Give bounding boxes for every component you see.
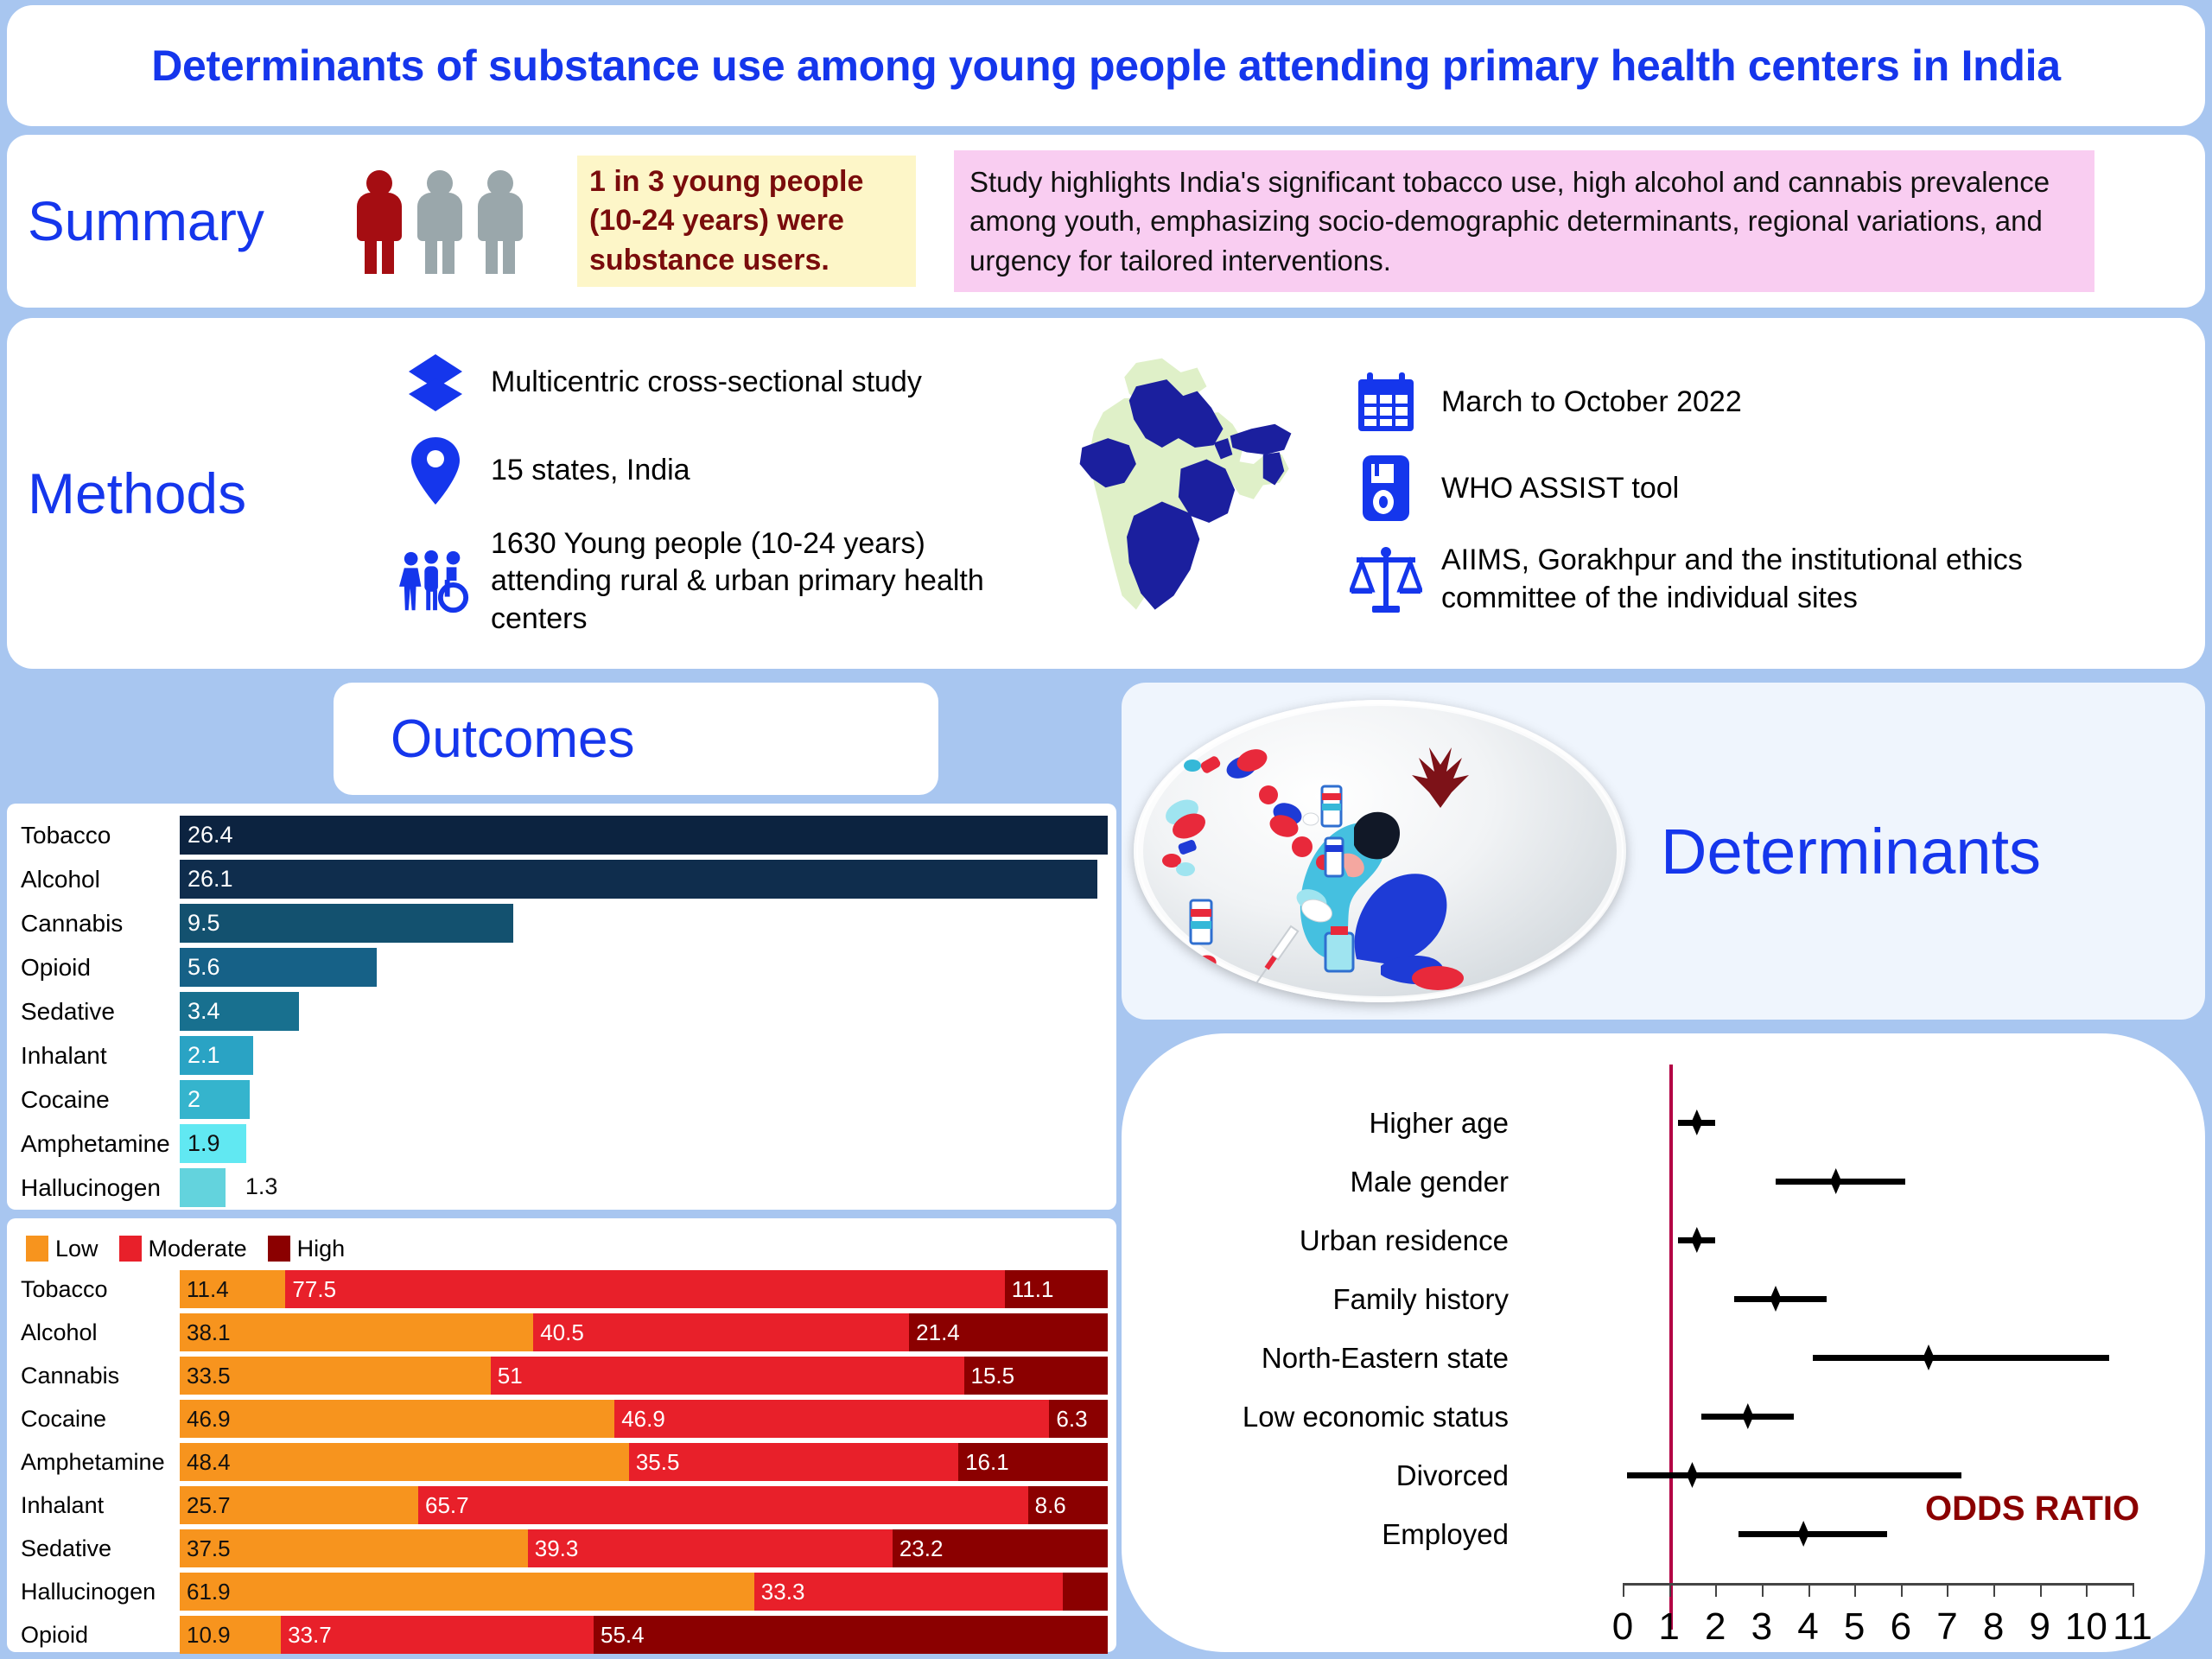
prevalence-bar-row: Tobacco26.4	[7, 814, 1108, 856]
severity-bar-label: Cocaine	[7, 1406, 180, 1433]
prevalence-bar-track: 26.1	[180, 860, 1108, 899]
severity-segment-value: 15.5	[971, 1363, 1015, 1389]
person-leg-left	[425, 236, 437, 274]
assessment-tool-icon	[1350, 454, 1422, 523]
severity-segment-value: 55.4	[601, 1622, 645, 1649]
severity-segment-low: 48.4	[180, 1443, 629, 1481]
method-item-period: March to October 2022	[1350, 369, 2050, 435]
severity-bar-track: 25.765.78.6	[180, 1486, 1108, 1524]
severity-segment-low: 46.9	[180, 1400, 614, 1438]
prevalence-bar-value: 1.3	[245, 1173, 278, 1200]
severity-segment-value: 61.9	[187, 1579, 231, 1605]
severity-segment-value: 8.6	[1035, 1492, 1066, 1519]
severity-segment-moderate: 33.7	[281, 1616, 594, 1654]
determinants-card: Determinants	[1122, 683, 2205, 1020]
legend-item-moderate: Moderate	[119, 1236, 247, 1262]
prevalence-bar-row: Alcohol26.1	[7, 858, 1108, 900]
outcomes-card: Outcomes	[334, 683, 938, 795]
prevalence-bar-row: Cocaine2	[7, 1078, 1108, 1121]
legend-label: High	[297, 1236, 346, 1262]
forest-axis-tick-label: 10	[2065, 1605, 2107, 1649]
severity-bar-row: Hallucinogen61.933.3	[7, 1571, 1108, 1612]
severity-segment-value: 33.7	[288, 1622, 332, 1649]
prevalence-bar-fill: 26.1	[180, 860, 1097, 899]
severity-rows: Tobacco11.477.511.1Alcohol38.140.521.4Ca…	[7, 1268, 1108, 1656]
prevalence-bar-track: 3.4	[180, 992, 1108, 1031]
person-leg-left	[486, 236, 498, 274]
prevalence-bar-value: 1.9	[188, 1130, 220, 1157]
prevalence-bar-track: 26.4	[180, 816, 1108, 855]
forest-row-label: Male gender	[1122, 1166, 1528, 1198]
severity-segment-high: 55.4	[594, 1616, 1108, 1654]
infographic-page: Determinants of substance use among youn…	[0, 0, 2212, 1659]
prevalence-bar-row: Cannabis9.5	[7, 902, 1108, 944]
forest-x-axis	[1623, 1583, 2133, 1586]
severity-bar-track: 37.539.323.2	[180, 1529, 1108, 1567]
calendar-icon	[1350, 369, 1422, 435]
prevalence-bar-value: 26.1	[188, 866, 233, 893]
methods-card: Methods Multicentric cross-sectional stu…	[7, 318, 2205, 669]
forest-row: Low economic status	[1122, 1388, 2205, 1446]
severity-bar-track: 38.140.521.4	[180, 1313, 1108, 1351]
legend-item-low: Low	[26, 1236, 99, 1262]
severity-segment-value: 23.2	[899, 1535, 944, 1562]
summary-heading: Summary	[28, 189, 347, 253]
layers-icon	[399, 349, 472, 416]
severity-segment-value: 10.9	[187, 1622, 231, 1649]
severity-segment-moderate: 51	[491, 1357, 964, 1395]
severity-bar-row: Inhalant25.765.78.6	[7, 1484, 1108, 1526]
method-item-tool: WHO ASSIST tool	[1350, 454, 2050, 523]
severity-segment-value: 48.4	[187, 1449, 231, 1476]
severity-segment-value: 39.3	[535, 1535, 579, 1562]
prevalence-bar-track: 9.5	[180, 904, 1108, 943]
forest-row: Urban residence	[1122, 1211, 2205, 1270]
severity-bar-label: Sedative	[7, 1535, 180, 1562]
severity-segment-value: 6.3	[1056, 1406, 1087, 1433]
severity-segment-value: 35.5	[636, 1449, 680, 1476]
prevalence-bar-value: 9.5	[188, 910, 220, 937]
severity-bar-track: 61.933.3	[180, 1573, 1108, 1611]
person-body	[417, 193, 462, 241]
people-pictogram	[354, 170, 525, 272]
person-leg-right	[503, 236, 515, 274]
prevalence-bar-value: 2	[188, 1086, 200, 1113]
outcomes-heading: Outcomes	[391, 709, 635, 770]
severity-segment-low: 37.5	[180, 1529, 528, 1567]
methods-left-column: Multicentric cross-sectional study 15 st…	[399, 349, 1039, 639]
prevalence-bar-track: 1.3	[180, 1168, 1108, 1207]
prevalence-bar-fill: 3.4	[180, 992, 299, 1031]
severity-segment-value: 40.5	[540, 1319, 584, 1346]
forest-row-label: Family history	[1122, 1283, 1528, 1316]
substance-use-illustration	[1134, 700, 1626, 1002]
severity-segment-moderate: 65.7	[418, 1486, 1028, 1524]
forest-plot-inner: 01234567891011ODDS RATIOHigher ageMale g…	[1122, 1033, 2205, 1652]
legend-swatch	[268, 1236, 290, 1262]
legend-label: Moderate	[149, 1236, 247, 1262]
method-text-period: March to October 2022	[1441, 384, 1742, 422]
forest-axis-tick-label: 1	[1658, 1605, 1679, 1649]
severity-segment-low: 10.9	[180, 1616, 281, 1654]
severity-stacked-chart: LowModerateHigh Tobacco11.477.511.1Alcoh…	[7, 1218, 1116, 1652]
forest-row: Divorced	[1122, 1446, 2205, 1505]
prevalence-bar-fill: 2	[180, 1080, 250, 1119]
severity-segment-moderate: 40.5	[533, 1313, 909, 1351]
severity-segment-value: 21.4	[916, 1319, 960, 1346]
methods-right-column: March to October 2022 WHO ASSIST tool	[1350, 369, 2050, 617]
people-group-icon	[399, 549, 472, 614]
severity-segment-low: 61.9	[180, 1573, 754, 1611]
forest-axis-tick-label: 0	[1612, 1605, 1633, 1649]
forest-row-label: Low economic status	[1122, 1401, 1528, 1433]
severity-segment-value: 38.1	[187, 1319, 231, 1346]
severity-segment-moderate: 35.5	[629, 1443, 958, 1481]
severity-bar-row: Cannabis33.55115.5	[7, 1355, 1108, 1396]
severity-bar-label: Hallucinogen	[7, 1579, 180, 1605]
forest-axis-tick-label: 4	[1797, 1605, 1818, 1649]
forest-row: Employed	[1122, 1505, 2205, 1564]
method-text-location: 15 states, India	[491, 452, 690, 490]
forest-axis-tick	[1901, 1583, 1903, 1597]
forest-axis-tick-label: 5	[1844, 1605, 1865, 1649]
forest-axis-tick	[1623, 1583, 1624, 1597]
forest-axis-tick-label: 3	[1751, 1605, 1772, 1649]
page-title: Determinants of substance use among youn…	[151, 41, 2061, 91]
prevalence-bar-value: 26.4	[188, 822, 233, 849]
forest-axis-tick	[1993, 1583, 1995, 1597]
prevalence-bar-value: 3.4	[188, 998, 220, 1025]
severity-bar-track: 11.477.511.1	[180, 1270, 1108, 1308]
severity-bar-track: 10.933.755.4	[180, 1616, 1108, 1654]
prevalence-bar-label: Alcohol	[7, 866, 180, 893]
prevalence-bar-label: Hallucinogen	[7, 1174, 180, 1202]
severity-segment-value: 65.7	[425, 1492, 469, 1519]
severity-segment-high	[1063, 1573, 1108, 1611]
legend-label: Low	[55, 1236, 99, 1262]
severity-segment-value: 51	[498, 1363, 523, 1389]
person-icon-nonuser-1	[415, 170, 465, 272]
legend-swatch	[119, 1236, 142, 1262]
severity-segment-high: 6.3	[1049, 1400, 1108, 1438]
severity-segment-value: 11.1	[1012, 1276, 1054, 1303]
severity-bar-row: Opioid10.933.755.4	[7, 1614, 1108, 1656]
severity-segment-high: 8.6	[1028, 1486, 1108, 1524]
severity-bar-track: 33.55115.5	[180, 1357, 1108, 1395]
forest-row: North-Eastern state	[1122, 1329, 2205, 1388]
severity-segment-value: 25.7	[187, 1492, 231, 1519]
forest-row-label: Divorced	[1122, 1459, 1528, 1492]
severity-bar-track: 46.946.96.3	[180, 1400, 1108, 1438]
prevalence-bar-chart: Tobacco26.4Alcohol26.1Cannabis9.5Opioid5…	[7, 804, 1116, 1210]
prevalence-bar-label: Sedative	[7, 998, 180, 1026]
person-body	[357, 193, 402, 241]
prevalence-bar-row: Opioid5.6	[7, 946, 1108, 988]
forest-axis-tick-label: 7	[1936, 1605, 1957, 1649]
forest-row-label: Urban residence	[1122, 1224, 1528, 1257]
forest-axis-tick	[1762, 1583, 1764, 1597]
method-text-study-design: Multicentric cross-sectional study	[491, 364, 922, 402]
severity-segment-high: 23.2	[893, 1529, 1108, 1567]
prevalence-bar-fill	[180, 1168, 226, 1207]
severity-segment-moderate: 39.3	[528, 1529, 893, 1567]
severity-bar-row: Tobacco11.477.511.1	[7, 1268, 1108, 1310]
forest-axis-tick	[1947, 1583, 1948, 1597]
method-item-ethics: AIIMS, Gorakhpur and the institutional e…	[1350, 542, 2050, 617]
method-text-tool: WHO ASSIST tool	[1441, 470, 1679, 508]
summary-stat-callout: 1 in 3 young people (10-24 years) were s…	[577, 156, 916, 288]
forest-axis-tick-label: 9	[2029, 1605, 2050, 1649]
prevalence-bar-track: 2	[180, 1080, 1108, 1119]
forest-row-label: Higher age	[1122, 1107, 1528, 1140]
forest-axis-tick	[1808, 1583, 1810, 1597]
forest-axis-tick	[1715, 1583, 1717, 1597]
forest-axis-tick	[1854, 1583, 1856, 1597]
summary-card: Summary 1 in 3 young people (10-24	[7, 135, 2205, 308]
prevalence-bar-fill: 26.4	[180, 816, 1108, 855]
determinants-heading: Determinants	[1661, 815, 2041, 888]
prevalence-bar-label: Cocaine	[7, 1086, 180, 1114]
severity-bar-row: Cocaine46.946.96.3	[7, 1398, 1108, 1440]
forest-axis-tick	[2086, 1583, 2088, 1597]
forest-axis-tick-label: 11	[2113, 1605, 2152, 1649]
methods-heading: Methods	[28, 461, 399, 526]
person-leg-right	[442, 236, 454, 274]
forest-row: Male gender	[1122, 1153, 2205, 1211]
severity-segment-low: 33.5	[180, 1357, 491, 1395]
severity-segment-value: 33.5	[187, 1363, 231, 1389]
india-map-icon	[1056, 346, 1315, 640]
person-icon-user	[354, 170, 404, 272]
severity-segment-low: 38.1	[180, 1313, 533, 1351]
forest-axis-tick	[2133, 1583, 2134, 1597]
severity-segment-value: 33.3	[761, 1579, 805, 1605]
severity-segment-moderate: 46.9	[614, 1400, 1049, 1438]
odds-ratio-forest-plot: 01234567891011ODDS RATIOHigher ageMale g…	[1122, 1033, 2205, 1652]
severity-segment-value: 77.5	[292, 1276, 336, 1303]
severity-bar-label: Cannabis	[7, 1363, 180, 1389]
severity-bar-label: Alcohol	[7, 1319, 180, 1346]
prevalence-bar-fill: 2.1	[180, 1036, 253, 1075]
forest-axis-tick-label: 2	[1705, 1605, 1726, 1649]
severity-segment-high: 11.1	[1005, 1270, 1108, 1308]
severity-segment-high: 15.5	[964, 1357, 1108, 1395]
severity-segment-low: 25.7	[180, 1486, 418, 1524]
title-card: Determinants of substance use among youn…	[7, 5, 2205, 126]
forest-row-label: Employed	[1122, 1518, 1528, 1551]
method-text-participants: 1630 Young people (10-24 years) attendin…	[491, 525, 1039, 639]
prevalence-bar-label: Tobacco	[7, 822, 180, 849]
severity-bar-row: Sedative37.539.323.2	[7, 1528, 1108, 1569]
location-pin-icon	[399, 435, 472, 506]
severity-bar-track: 48.435.516.1	[180, 1443, 1108, 1481]
person-leg-left	[365, 236, 377, 274]
method-text-ethics: AIIMS, Gorakhpur and the institutional e…	[1441, 542, 2050, 617]
prevalence-bar-value: 2.1	[188, 1042, 220, 1069]
prevalence-bar-track: 2.1	[180, 1036, 1108, 1075]
scales-icon	[1350, 543, 1422, 616]
prevalence-bar-value: 5.6	[188, 954, 220, 981]
severity-segment-low: 11.4	[180, 1270, 285, 1308]
severity-bar-row: Alcohol38.140.521.4	[7, 1312, 1108, 1353]
prevalence-bar-fill: 1.9	[180, 1124, 246, 1163]
severity-segment-value: 46.9	[621, 1406, 665, 1433]
prevalence-bar-row: Amphetamine1.9	[7, 1122, 1108, 1165]
method-item-study-design: Multicentric cross-sectional study	[399, 349, 1039, 416]
severity-bar-label: Inhalant	[7, 1492, 180, 1519]
forest-axis-tick	[1669, 1583, 1671, 1597]
severity-segment-value: 16.1	[965, 1449, 1009, 1476]
severity-segment-high: 21.4	[909, 1313, 1108, 1351]
prevalence-bar-fill: 9.5	[180, 904, 513, 943]
severity-segment-value: 11.4	[187, 1276, 229, 1303]
severity-bar-label: Tobacco	[7, 1276, 180, 1303]
forest-row: Higher age	[1122, 1094, 2205, 1153]
severity-segment-high: 16.1	[958, 1443, 1108, 1481]
forest-axis-tick	[2040, 1583, 2042, 1597]
prevalence-bar-label: Amphetamine	[7, 1130, 180, 1158]
forest-axis-tick-label: 8	[1983, 1605, 2004, 1649]
legend-item-high: High	[268, 1236, 346, 1262]
person-leg-right	[382, 236, 394, 274]
legend-swatch	[26, 1236, 48, 1262]
method-item-participants: 1630 Young people (10-24 years) attendin…	[399, 525, 1039, 639]
severity-bar-label: Amphetamine	[7, 1449, 180, 1476]
forest-row-label: North-Eastern state	[1122, 1342, 1528, 1375]
forest-axis-tick-label: 6	[1891, 1605, 1911, 1649]
prevalence-bar-fill: 5.6	[180, 948, 377, 987]
summary-highlight-text: Study highlights India's significant tob…	[954, 150, 2094, 292]
severity-bar-label: Opioid	[7, 1622, 180, 1649]
severity-legend: LowModerateHigh	[7, 1229, 1108, 1268]
prevalence-bar-row: Hallucinogen1.3	[7, 1166, 1108, 1209]
prevalence-bar-row: Inhalant2.1	[7, 1034, 1108, 1077]
prevalence-bar-label: Inhalant	[7, 1042, 180, 1070]
prevalence-bar-label: Cannabis	[7, 910, 180, 938]
person-icon-nonuser-2	[475, 170, 525, 272]
severity-segment-value: 37.5	[187, 1535, 231, 1562]
severity-segment-moderate: 33.3	[754, 1573, 1064, 1611]
severity-bar-row: Amphetamine48.435.516.1	[7, 1441, 1108, 1483]
severity-segment-value: 46.9	[187, 1406, 231, 1433]
method-item-location: 15 states, India	[399, 435, 1039, 506]
prevalence-bar-track: 1.9	[180, 1124, 1108, 1163]
prevalence-bar-row: Sedative3.4	[7, 990, 1108, 1033]
forest-row: Family history	[1122, 1270, 2205, 1329]
prevalence-bar-label: Opioid	[7, 954, 180, 982]
prevalence-bar-track: 5.6	[180, 948, 1108, 987]
severity-segment-moderate: 77.5	[285, 1270, 1004, 1308]
person-body	[478, 193, 523, 241]
